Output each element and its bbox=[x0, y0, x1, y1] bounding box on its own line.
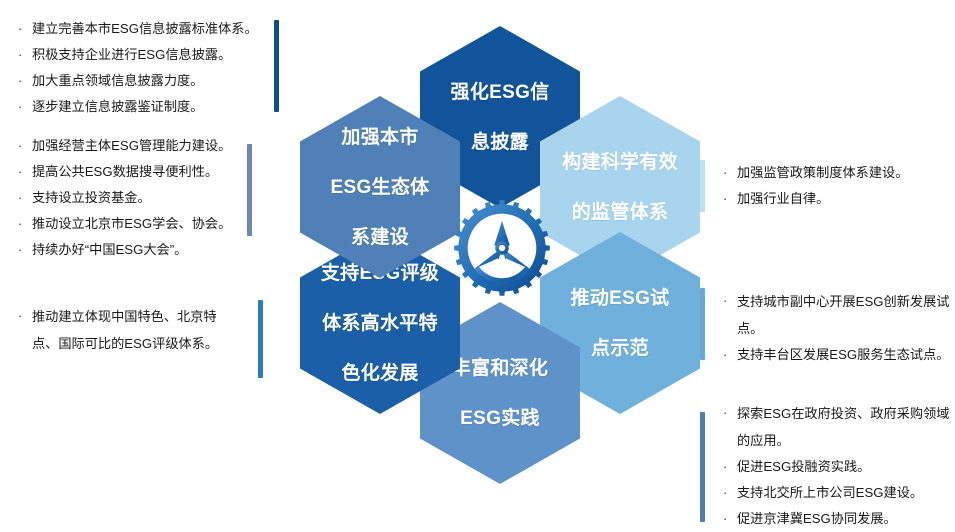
list-item: ·持续办好“中国ESG大会”。 bbox=[18, 237, 231, 263]
list-item: ·支持丰台区发展ESG服务生态试点。 bbox=[723, 342, 952, 368]
note-list: ·建立完善本市ESG信息披露标准体系。 ·积极支持企业进行ESG信息披露。 ·加… bbox=[18, 16, 258, 120]
hexagon-label: 支持ESG评级体系高水平特色化发展 bbox=[305, 261, 455, 386]
list-item: ·推动设立北京市ESG学会、协会。 bbox=[18, 211, 231, 237]
accent-bar bbox=[247, 144, 252, 236]
note-list: ·支持城市副中心开展ESG创新发展试点。 ·支持丰台区发展ESG服务生态试点。 bbox=[723, 288, 952, 368]
note-block-practice: ·探索ESG在政府投资、政府采购领域的应用。 ·促进ESG投融资实践。 ·支持北… bbox=[700, 400, 950, 532]
list-item: ·加强监管政策制度体系建设。 bbox=[723, 160, 908, 186]
list-item: ·积极支持企业进行ESG信息披露。 bbox=[18, 42, 258, 68]
bullet-icon: · bbox=[723, 454, 737, 480]
list-item: ·探索ESG在政府投资、政府采购领域的应用。 bbox=[723, 400, 950, 454]
list-item: ·支持北交所上市公司ESG建设。 bbox=[723, 480, 950, 506]
list-item: ·支持城市副中心开展ESG创新发展试点。 bbox=[723, 288, 952, 342]
hexagon-ring: 强化ESG信息披露 构建科学有效的监管体系 推动ESG试点示范 丰富和深化ESG… bbox=[272, 24, 692, 484]
list-item: ·逐步建立信息披露鉴证制度。 bbox=[18, 94, 258, 120]
list-item: ·加强行业自律。 bbox=[723, 186, 908, 212]
note-block-pilot: ·支持城市副中心开展ESG创新发展试点。 ·支持丰台区发展ESG服务生态试点。 bbox=[700, 288, 952, 368]
list-item: ·促进ESG投融资实践。 bbox=[723, 454, 950, 480]
note-list: ·探索ESG在政府投资、政府采购领域的应用。 ·促进ESG投融资实践。 ·支持北… bbox=[723, 400, 950, 532]
esg-hexagon-diagram: ·建立完善本市ESG信息披露标准体系。 ·积极支持企业进行ESG信息披露。 ·加… bbox=[0, 0, 955, 528]
list-item: ·建立完善本市ESG信息披露标准体系。 bbox=[18, 16, 258, 42]
note-block-rating: ·推动建立体现中国特色、北京特点、国际可比的ESG评级体系。 bbox=[18, 303, 263, 378]
list-item: ·支持设立投资基金。 bbox=[18, 185, 231, 211]
bullet-icon: · bbox=[18, 16, 32, 42]
note-list: ·加强经营主体ESG管理能力建设。 ·提高公共ESG数据搜寻便利性。 ·支持设立… bbox=[18, 133, 231, 263]
bullet-icon: · bbox=[18, 94, 32, 120]
bullet-icon: · bbox=[723, 160, 737, 186]
accent-bar bbox=[258, 300, 263, 378]
bullet-icon: · bbox=[723, 400, 737, 454]
bullet-icon: · bbox=[18, 68, 32, 94]
bullet-icon: · bbox=[723, 186, 737, 212]
bullet-icon: · bbox=[18, 133, 32, 159]
list-item: ·加大重点领域信息披露力度。 bbox=[18, 68, 258, 94]
accent-bar bbox=[700, 160, 705, 212]
bullet-icon: · bbox=[18, 185, 32, 211]
accent-bar bbox=[700, 288, 705, 360]
note-list: ·推动建立体现中国特色、北京特点、国际可比的ESG评级体系。 bbox=[18, 303, 242, 378]
bullet-icon: · bbox=[18, 237, 32, 263]
note-list: ·加强监管政策制度体系建设。 ·加强行业自律。 bbox=[723, 160, 908, 212]
list-item: ·推动建立体现中国特色、北京特点、国际可比的ESG评级体系。 bbox=[18, 303, 242, 357]
bullet-icon: · bbox=[18, 159, 32, 185]
note-block-disclosure: ·建立完善本市ESG信息披露标准体系。 ·积极支持企业进行ESG信息披露。 ·加… bbox=[18, 16, 279, 120]
hexagon-label: 加强本市ESG生态体系建设 bbox=[315, 125, 446, 250]
bullet-icon: · bbox=[18, 211, 32, 237]
list-item: ·加强经营主体ESG管理能力建设。 bbox=[18, 133, 231, 159]
accent-bar bbox=[700, 412, 705, 522]
note-block-ecosystem: ·加强经营主体ESG管理能力建设。 ·提高公共ESG数据搜寻便利性。 ·支持设立… bbox=[18, 133, 252, 263]
note-block-supervision: ·加强监管政策制度体系建设。 ·加强行业自律。 bbox=[700, 160, 908, 212]
bullet-icon: · bbox=[723, 342, 737, 368]
list-item: ·促进京津冀ESG协同发展。 bbox=[723, 506, 950, 532]
bullet-icon: · bbox=[723, 506, 737, 532]
bullet-icon: · bbox=[18, 42, 32, 68]
bullet-icon: · bbox=[723, 480, 737, 506]
bullet-icon: · bbox=[723, 288, 737, 342]
list-item: ·提高公共ESG数据搜寻便利性。 bbox=[18, 159, 231, 185]
hexagon-label: 构建科学有效的监管体系 bbox=[546, 150, 694, 225]
bullet-icon: · bbox=[18, 303, 32, 357]
gear-icon bbox=[450, 196, 554, 300]
